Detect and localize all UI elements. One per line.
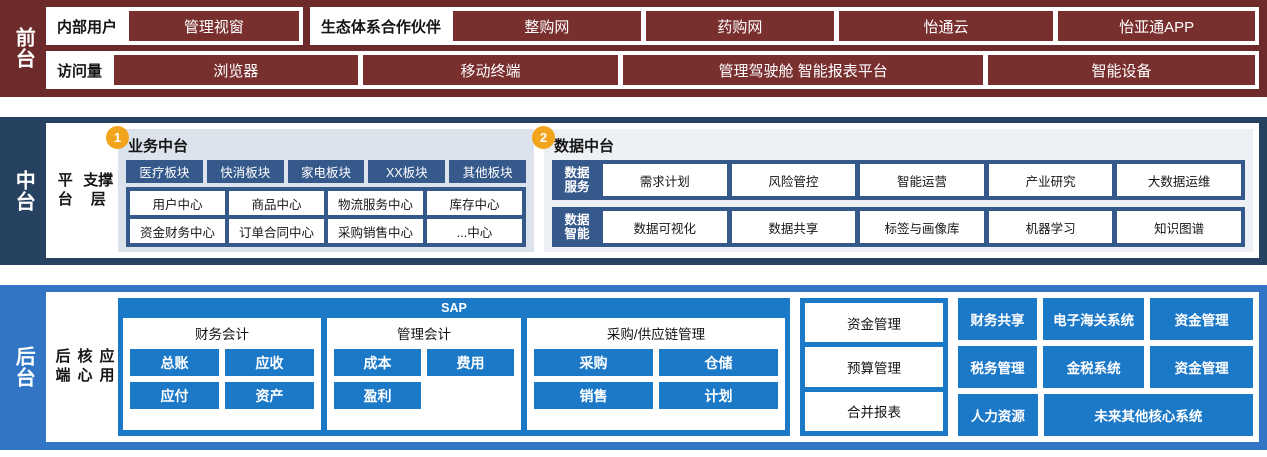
data-band-1: 数据智能数据可视化数据共享标签与画像库机器学习知识图谱 [552, 207, 1245, 247]
data-cell-数据可视化[interactable]: 数据可视化 [603, 211, 727, 243]
data-cell-需求计划[interactable]: 需求计划 [603, 164, 727, 196]
sector-家电板块[interactable]: 家电板块 [288, 160, 365, 183]
data-band-label-0: 数据服务 [556, 164, 598, 196]
middle-platform-body: 平台支撑层 1 业务中台 医疗板块快消板块家电板块XX板块其他板块 用户中心商品… [46, 123, 1259, 258]
sap-system-box[interactable]: SAP 财务会计总账应收应付资产管理会计成本费用盈利采购/供应链管理采购仓储销售… [118, 298, 790, 436]
data-cell-知识图谱[interactable]: 知识图谱 [1117, 211, 1241, 243]
sap-title: SAP [123, 301, 785, 315]
sector-XX板块[interactable]: XX板块 [368, 160, 445, 183]
front-chip-浏览器[interactable]: 浏览器 [114, 55, 358, 85]
data-cell-产业研究[interactable]: 产业研究 [989, 164, 1113, 196]
business-rows: 医疗板块快消板块家电板块XX板块其他板块 用户中心商品中心物流服务中心库存中心资… [126, 160, 526, 247]
sap-chip-盈利[interactable]: 盈利 [334, 382, 421, 409]
front-office-label: 前台 [0, 7, 46, 89]
support-layer-line-1: 支撑层 [78, 172, 118, 210]
sap-chip-总账[interactable]: 总账 [130, 349, 219, 376]
backend-core-line-0: 后端 [52, 348, 74, 386]
front-office-band: 前台 内部用户管理视窗生态体系合作伙伴整购网药购网怡通云怡亚通APP访问量浏览器… [0, 0, 1267, 97]
sap-column-财务会计: 财务会计总账应收应付资产 [123, 318, 321, 430]
fund-cell-预算管理[interactable]: 预算管理 [805, 347, 943, 386]
sap-column-title-采购/供应链管理: 采购/供应链管理 [534, 323, 778, 343]
sap-grid-1: 成本费用盈利 [334, 349, 514, 409]
business-center-band: 用户中心商品中心物流服务中心库存中心资金财务中心订单合同中心采购销售中心...中… [126, 187, 526, 247]
data-cell-智能运营[interactable]: 智能运营 [860, 164, 984, 196]
sap-grid-0: 总账应收应付资产 [130, 349, 314, 409]
business-sector-row: 医疗板块快消板块家电板块XX板块其他板块 [126, 160, 526, 183]
sap-chip-应收[interactable]: 应收 [225, 349, 314, 376]
front-row-1: 访问量浏览器移动终端管理驾驶舱 智能报表平台智能设备 [46, 51, 1259, 89]
sap-chip-销售[interactable]: 销售 [534, 382, 653, 409]
middle-platform-band: 中台 平台支撑层 1 业务中台 医疗板块快消板块家电板块XX板块其他板块 用户中… [0, 117, 1267, 265]
business-middle-platform-panel[interactable]: 1 业务中台 医疗板块快消板块家电板块XX板块其他板块 用户中心商品中心物流服务… [118, 129, 534, 252]
data-middle-platform-panel[interactable]: 2 数据中台 数据服务需求计划风险管控智能运营产业研究大数据运维数据智能数据可视… [544, 129, 1253, 252]
system-资金管理[interactable]: 资金管理 [1150, 346, 1253, 388]
center-物流服务中心[interactable]: 物流服务中心 [328, 191, 423, 215]
system-资金管理[interactable]: 资金管理 [1150, 298, 1253, 340]
front-group-title-生态体系合作伙伴: 生态体系合作伙伴 [314, 16, 448, 37]
front-chip-智能设备[interactable]: 智能设备 [988, 55, 1255, 85]
system-金税系统[interactable]: 金税系统 [1043, 346, 1144, 388]
front-group-title-内部用户: 内部用户 [50, 16, 124, 37]
data-cells-1: 数据可视化数据共享标签与画像库机器学习知识图谱 [603, 211, 1241, 243]
badge-2: 2 [532, 126, 555, 149]
front-group-访问量: 访问量浏览器移动终端管理驾驶舱 智能报表平台智能设备 [46, 51, 1259, 89]
backend-core-line-1: 核心 [74, 348, 96, 386]
other-systems-column: 财务共享电子海关系统资金管理税务管理金税系统资金管理人力资源未来其他核心系统 [958, 298, 1253, 436]
data-band-label-0-line-1: 服务 [564, 180, 589, 194]
backend-core-line-2: 应用 [96, 348, 118, 386]
sector-医疗板块[interactable]: 医疗板块 [126, 160, 203, 183]
center-用户中心[interactable]: 用户中心 [130, 191, 225, 215]
front-office-body: 内部用户管理视窗生态体系合作伙伴整购网药购网怡通云怡亚通APP访问量浏览器移动终… [46, 7, 1259, 89]
sap-chip-采购[interactable]: 采购 [534, 349, 653, 376]
data-band-label-1-line-1: 智能 [564, 227, 589, 241]
front-group-生态体系合作伙伴: 生态体系合作伙伴整购网药购网怡通云怡亚通APP [310, 7, 1259, 45]
system-财务共享[interactable]: 财务共享 [958, 298, 1037, 340]
sap-chip-spacer [427, 382, 514, 409]
center-订单合同中心[interactable]: 订单合同中心 [229, 219, 324, 243]
center-资金财务中心[interactable]: 资金财务中心 [130, 219, 225, 243]
front-chip-怡亚通APP[interactable]: 怡亚通APP [1058, 11, 1255, 41]
sap-chip-资产[interactable]: 资产 [225, 382, 314, 409]
system-row-1: 税务管理金税系统资金管理 [958, 346, 1253, 388]
fund-management-column: 资金管理预算管理合并报表 [800, 298, 948, 436]
backend-core-application-label: 后端核心应用 [52, 298, 118, 436]
front-chip-管理驾驶舱 智能报表平台[interactable]: 管理驾驶舱 智能报表平台 [623, 55, 983, 85]
system-row-0: 财务共享电子海关系统资金管理 [958, 298, 1253, 340]
sap-chip-应付[interactable]: 应付 [130, 382, 219, 409]
sap-column-采购/供应链管理: 采购/供应链管理采购仓储销售计划 [527, 318, 785, 430]
data-cells-0: 需求计划风险管控智能运营产业研究大数据运维 [603, 164, 1241, 196]
center-row-1: 资金财务中心订单合同中心采购销售中心...中心 [130, 219, 522, 243]
badge-1: 1 [106, 126, 129, 149]
data-band-label-1: 数据智能 [556, 211, 598, 243]
back-office-body: 后端核心应用 SAP 财务会计总账应收应付资产管理会计成本费用盈利采购/供应链管… [46, 292, 1259, 442]
system-人力资源[interactable]: 人力资源 [958, 394, 1038, 436]
center-...中心[interactable]: ...中心 [427, 219, 522, 243]
data-platform-rows: 数据服务需求计划风险管控智能运营产业研究大数据运维数据智能数据可视化数据共享标签… [552, 160, 1245, 247]
system-row-2: 人力资源未来其他核心系统 [958, 394, 1253, 436]
middle-platform-label: 中台 [0, 123, 46, 258]
sap-grid-2: 采购仓储销售计划 [534, 349, 778, 409]
front-chip-管理视窗[interactable]: 管理视窗 [129, 11, 299, 41]
system-未来其他核心系统[interactable]: 未来其他核心系统 [1044, 394, 1253, 436]
backend-main-area: SAP 财务会计总账应收应付资产管理会计成本费用盈利采购/供应链管理采购仓储销售… [118, 298, 1253, 436]
platform-support-layer-label: 平台支撑层 [52, 129, 118, 252]
support-layer-line-0: 平台 [52, 172, 78, 210]
data-cell-机器学习[interactable]: 机器学习 [989, 211, 1113, 243]
data-cell-数据共享[interactable]: 数据共享 [732, 211, 856, 243]
business-middle-platform-title: 业务中台 [128, 135, 526, 156]
data-band-0: 数据服务需求计划风险管控智能运营产业研究大数据运维 [552, 160, 1245, 200]
sector-快消板块[interactable]: 快消板块 [207, 160, 284, 183]
front-chip-整购网[interactable]: 整购网 [453, 11, 641, 41]
data-middle-platform-title: 数据中台 [554, 135, 1245, 156]
front-group-title-访问量: 访问量 [50, 60, 109, 81]
front-group-内部用户: 内部用户管理视窗 [46, 7, 303, 45]
center-商品中心[interactable]: 商品中心 [229, 191, 324, 215]
system-电子海关系统[interactable]: 电子海关系统 [1043, 298, 1144, 340]
back-office-label: 后台 [0, 292, 46, 442]
data-cell-风险管控[interactable]: 风险管控 [732, 164, 856, 196]
sap-column-title-管理会计: 管理会计 [334, 323, 514, 343]
front-chip-药购网[interactable]: 药购网 [646, 11, 834, 41]
front-row-0: 内部用户管理视窗生态体系合作伙伴整购网药购网怡通云怡亚通APP [46, 7, 1259, 45]
back-office-band: 后台 后端核心应用 SAP 财务会计总账应收应付资产管理会计成本费用盈利采购/供… [0, 285, 1267, 450]
front-chip-移动终端[interactable]: 移动终端 [363, 55, 618, 85]
sap-column-管理会计: 管理会计成本费用盈利 [327, 318, 521, 430]
sector-其他板块[interactable]: 其他板块 [449, 160, 526, 183]
sap-columns: 财务会计总账应收应付资产管理会计成本费用盈利采购/供应链管理采购仓储销售计划 [123, 318, 785, 430]
system-税务管理[interactable]: 税务管理 [958, 346, 1037, 388]
sap-chip-费用[interactable]: 费用 [427, 349, 514, 376]
sap-column-title-财务会计: 财务会计 [130, 323, 314, 343]
data-band-label-1-line-0: 数据 [564, 213, 589, 227]
center-库存中心[interactable]: 库存中心 [427, 191, 522, 215]
center-row-0: 用户中心商品中心物流服务中心库存中心 [130, 191, 522, 215]
fund-cell-合并报表[interactable]: 合并报表 [805, 392, 943, 431]
front-chip-怡通云[interactable]: 怡通云 [839, 11, 1053, 41]
data-cell-大数据运维[interactable]: 大数据运维 [1117, 164, 1241, 196]
architecture-diagram: 前台 内部用户管理视窗生态体系合作伙伴整购网药购网怡通云怡亚通APP访问量浏览器… [0, 0, 1267, 457]
data-band-label-0-line-0: 数据 [564, 166, 589, 180]
sap-chip-计划[interactable]: 计划 [659, 382, 778, 409]
center-采购销售中心[interactable]: 采购销售中心 [328, 219, 423, 243]
middle-platform-panels: 1 业务中台 医疗板块快消板块家电板块XX板块其他板块 用户中心商品中心物流服务… [118, 129, 1253, 252]
sap-chip-成本[interactable]: 成本 [334, 349, 421, 376]
sap-chip-仓储[interactable]: 仓储 [659, 349, 778, 376]
data-cell-标签与画像库[interactable]: 标签与画像库 [860, 211, 984, 243]
fund-cell-资金管理[interactable]: 资金管理 [805, 303, 943, 342]
